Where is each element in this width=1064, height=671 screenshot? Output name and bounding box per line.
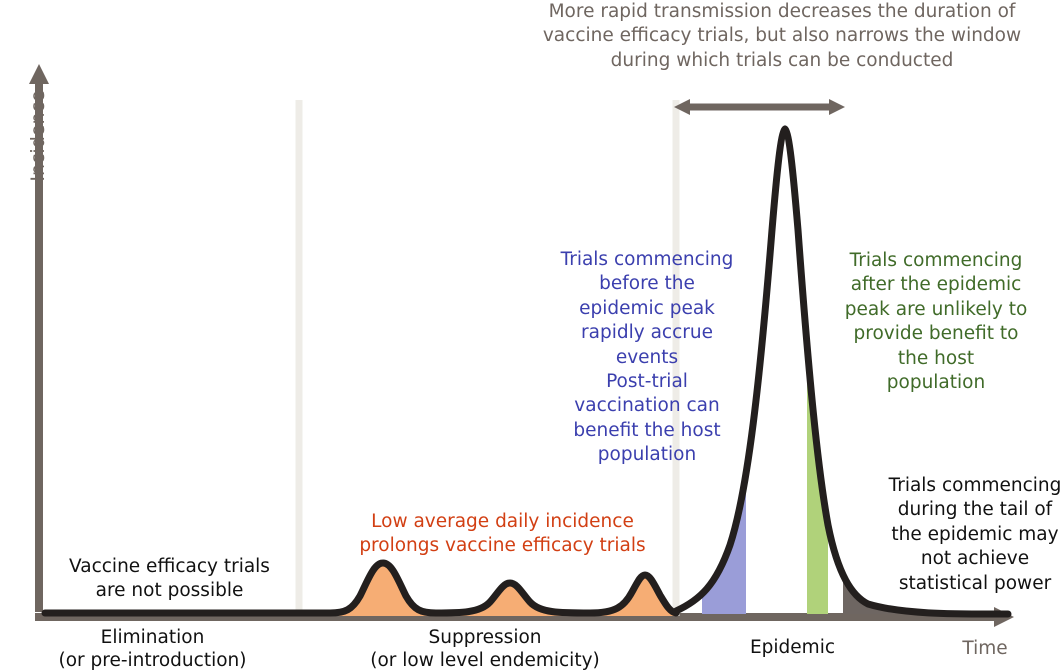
annotation-elimination: Vaccine efficacy trials are not possible: [52, 555, 287, 604]
figure-title: More rapid transmission decreases the du…: [512, 0, 1052, 73]
x-axis-label: Time: [930, 638, 1040, 659]
x-axis-category-suppression: Suppression (or low level endemicity): [355, 627, 615, 671]
x-axis-category-epidemic: Epidemic: [700, 637, 885, 660]
annotation-before-peak: Trials commencing before the epidemic pe…: [551, 248, 743, 468]
annotation-epidemic-tail: Trials commencing during the tail of the…: [885, 474, 1064, 596]
epidemic-trial-window-figure: More rapid transmission decreases the du…: [0, 0, 1064, 671]
x-axis-category-elimination: Elimination (or pre-introduction): [45, 627, 260, 671]
y-axis-label: Incidence: [27, 76, 49, 196]
annotation-after-peak: Trials commencing after the epidemic pea…: [840, 249, 1032, 395]
annotation-suppression: Low average daily incidence prolongs vac…: [350, 510, 655, 559]
trial-window-span-arrow: [674, 99, 845, 115]
